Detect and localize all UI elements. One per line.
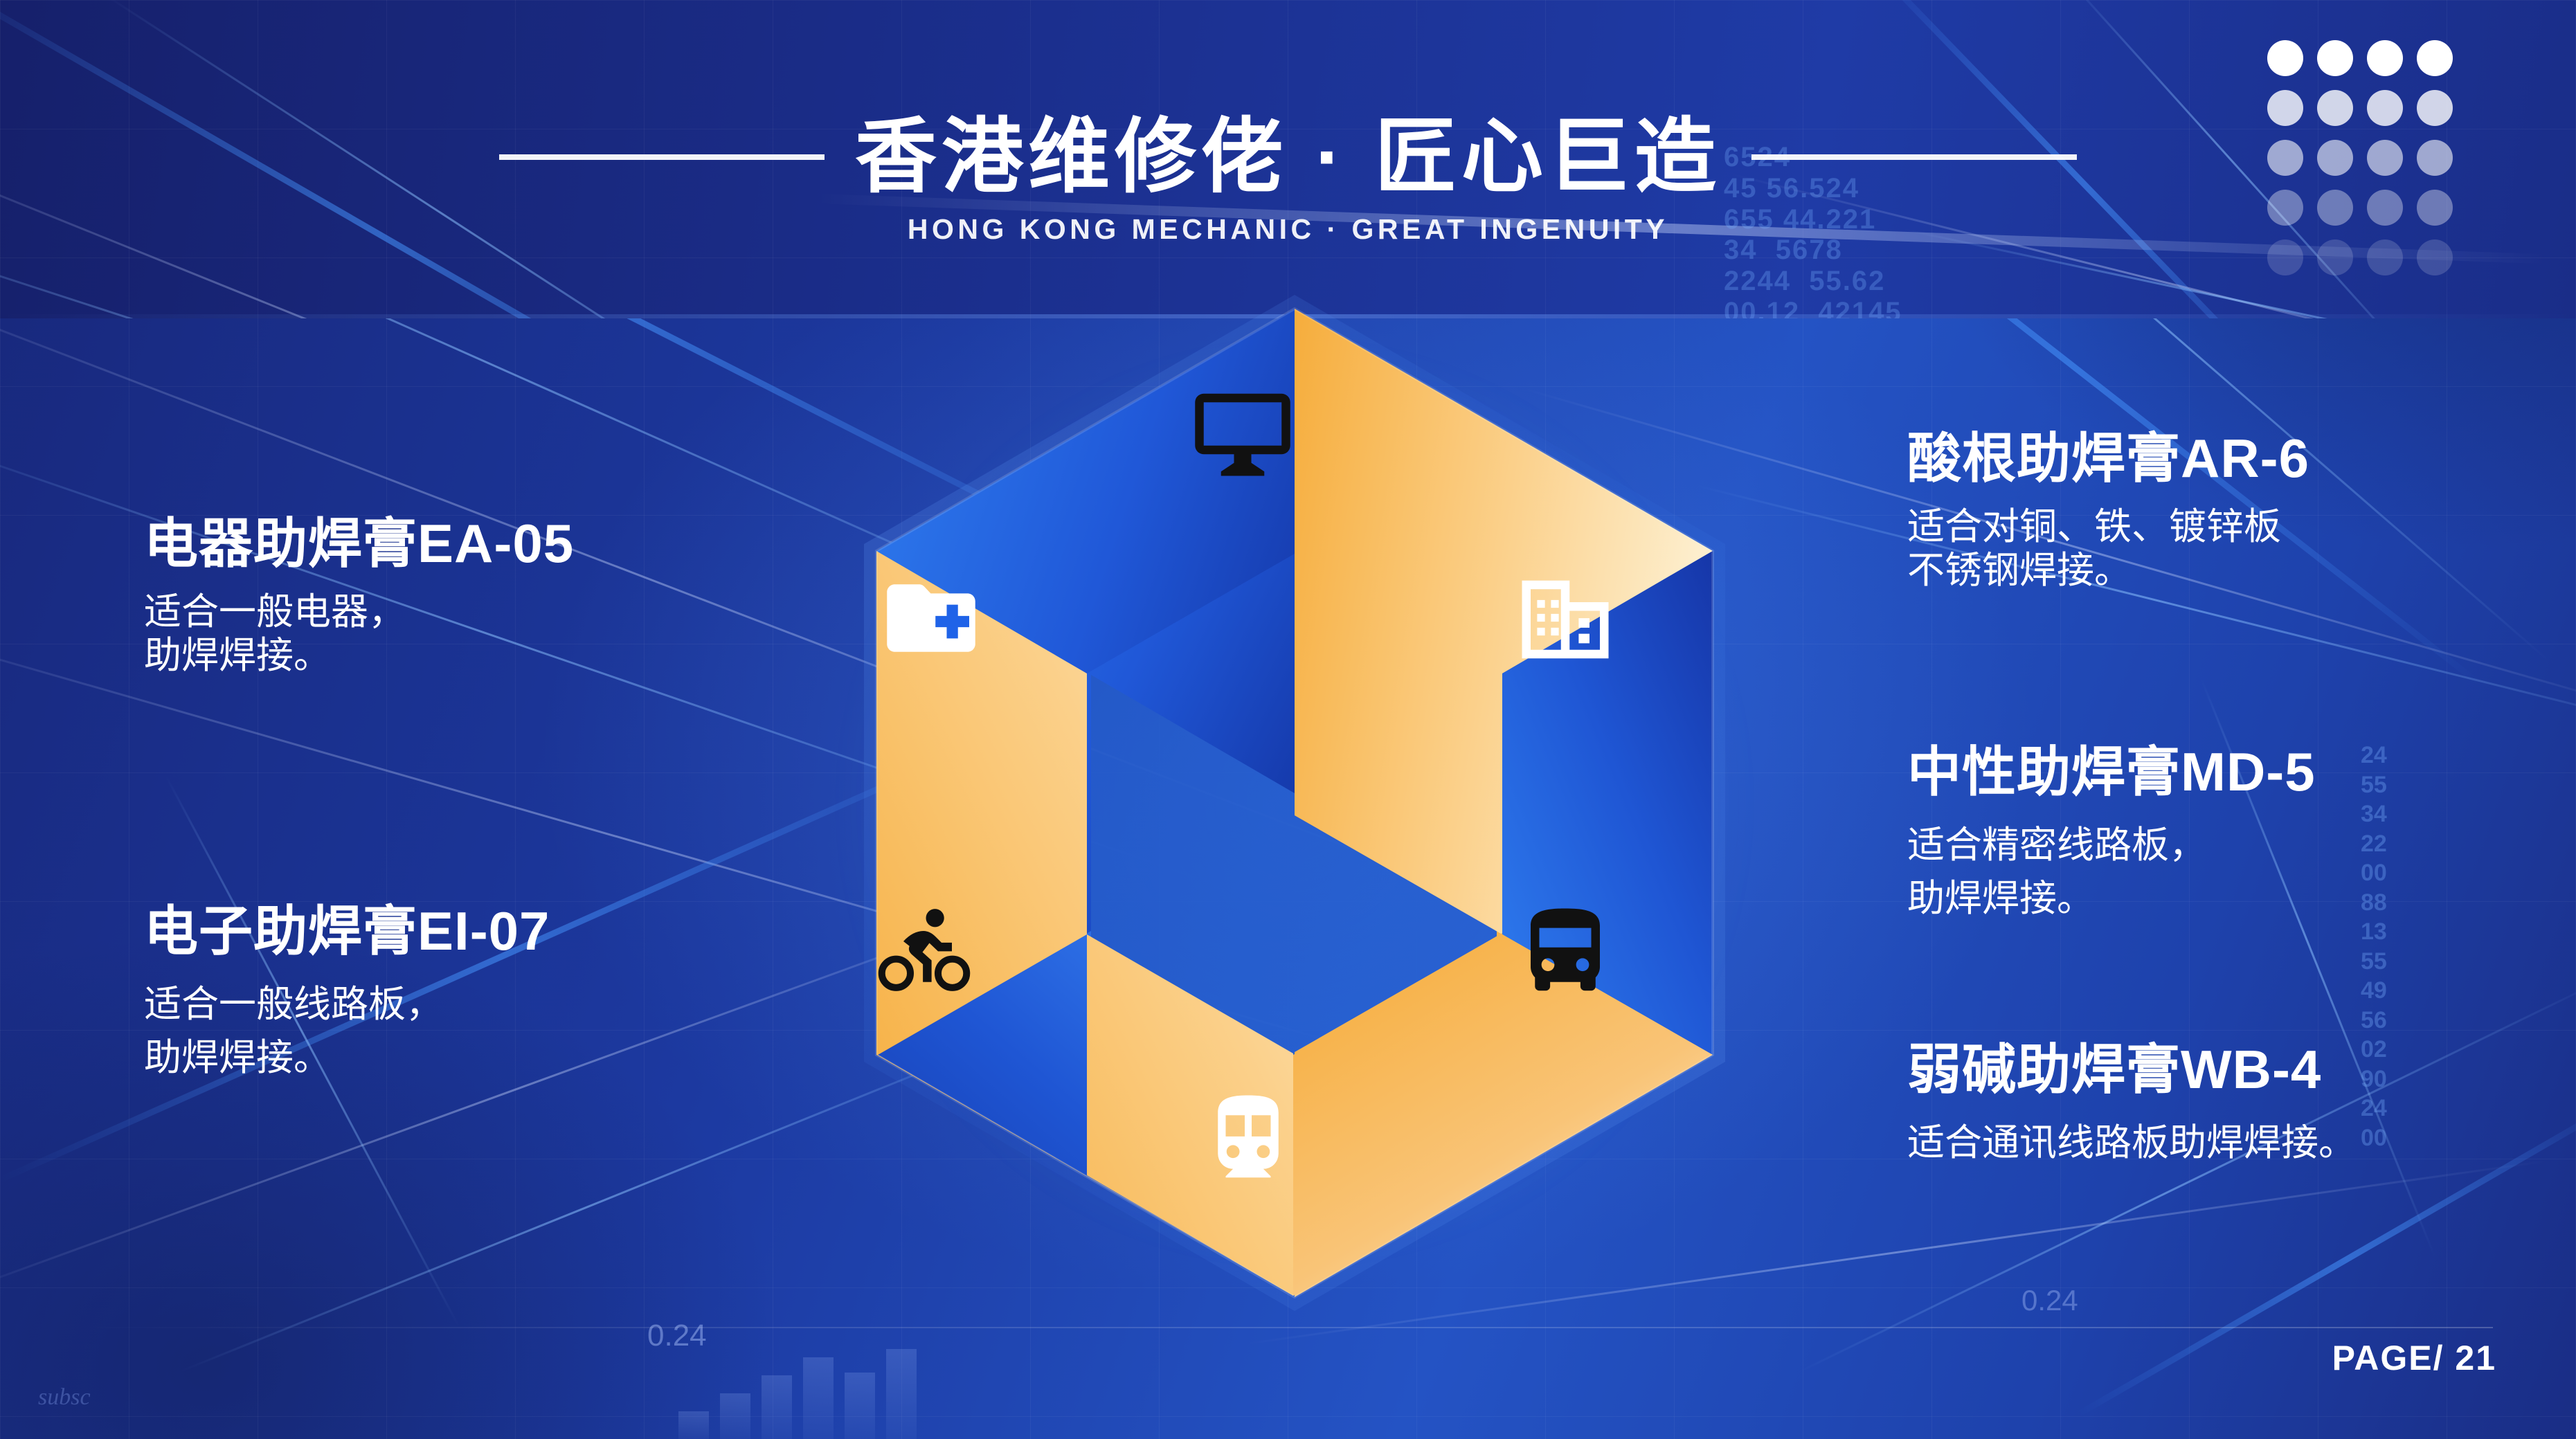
page-subtitle: HONG KONG MECHANIC · GREAT INGENUITY (0, 213, 2576, 246)
slide-root: 24 55 34 22 00 88 13 55 49 56 02 90 24 0… (0, 0, 2576, 1439)
monitor-icon[interactable] (1191, 381, 1295, 485)
deco-mini-bars (678, 1335, 917, 1439)
product-title: 弱碱助焊膏WB-4 (1907, 1042, 2356, 1098)
title-rule-right (1751, 154, 2077, 160)
product-desc-line-2: 助焊焊接。 (144, 634, 574, 678)
deco-value-024-right: 0.24 (2021, 1284, 2078, 1317)
product-desc-line-2: 助焊焊接。 (144, 1031, 550, 1085)
product-block-wb4: 弱碱助焊膏WB-4 适合通讯线路板助焊焊接。 (1907, 1042, 2356, 1170)
product-desc-line-1: 适合通讯线路板助焊焊接。 (1907, 1116, 2356, 1170)
product-title: 中性助焊膏MD-5 (1907, 744, 2316, 801)
bicycle-icon[interactable] (872, 900, 976, 1004)
dot-grid-decoration (2267, 40, 2453, 275)
page-number: PAGE/ 21 (2332, 1338, 2496, 1378)
product-block-md5: 中性助焊膏MD-5 适合精密线路板， 助焊焊接。 (1907, 744, 2316, 925)
product-desc-line-1: 适合一般线路板， (144, 978, 550, 1031)
hexagon-pinwheel-graphic (789, 291, 1800, 1315)
title-row: 香港维修佬 · 匠心巨造 (0, 116, 2576, 198)
product-block-ar6: 酸根助焊膏AR-6 适合对铜、铁、镀锌板 不锈钢焊接。 (1907, 431, 2309, 592)
footer-divider (83, 1327, 2493, 1328)
product-title: 酸根助焊膏AR-6 (1907, 431, 2309, 487)
product-block-ea05: 电器助焊膏EA-05 适合一般电器， 助焊焊接。 (144, 516, 574, 677)
product-block-ei07: 电子助焊膏EI-07 适合一般线路板， 助焊焊接。 (144, 903, 550, 1084)
deco-numbers-right: 24 55 34 22 00 88 13 55 49 56 02 90 24 0… (2361, 741, 2387, 1152)
product-title: 电子助焊膏EI-07 (144, 903, 550, 960)
title-block: 香港维修佬 · 匠心巨造 HONG KONG MECHANIC · GREAT … (0, 116, 2576, 246)
product-desc-line-2: 不锈钢焊接。 (1907, 549, 2309, 592)
building-icon[interactable] (1513, 568, 1617, 671)
product-desc-line-1: 适合精密线路板， (1907, 819, 2316, 872)
product-desc-line-1: 适合一般电器， (144, 590, 574, 634)
folder-plus-icon[interactable] (879, 566, 983, 670)
slide-header: 6524 45 56.524 655 44.221 34 5678 2244 5… (0, 0, 2576, 318)
page-title: 香港维修佬 · 匠心巨造 (855, 116, 1721, 198)
deco-subscript-text: subsc (38, 1384, 91, 1411)
product-desc-line-2: 助焊焊接。 (1907, 872, 2316, 925)
title-rule-left (499, 154, 825, 160)
bus-icon[interactable] (1513, 900, 1617, 1004)
product-desc-line-1: 适合对铜、铁、镀锌板 (1907, 505, 2309, 549)
train-icon[interactable] (1196, 1087, 1300, 1191)
product-title: 电器助焊膏EA-05 (144, 516, 574, 572)
